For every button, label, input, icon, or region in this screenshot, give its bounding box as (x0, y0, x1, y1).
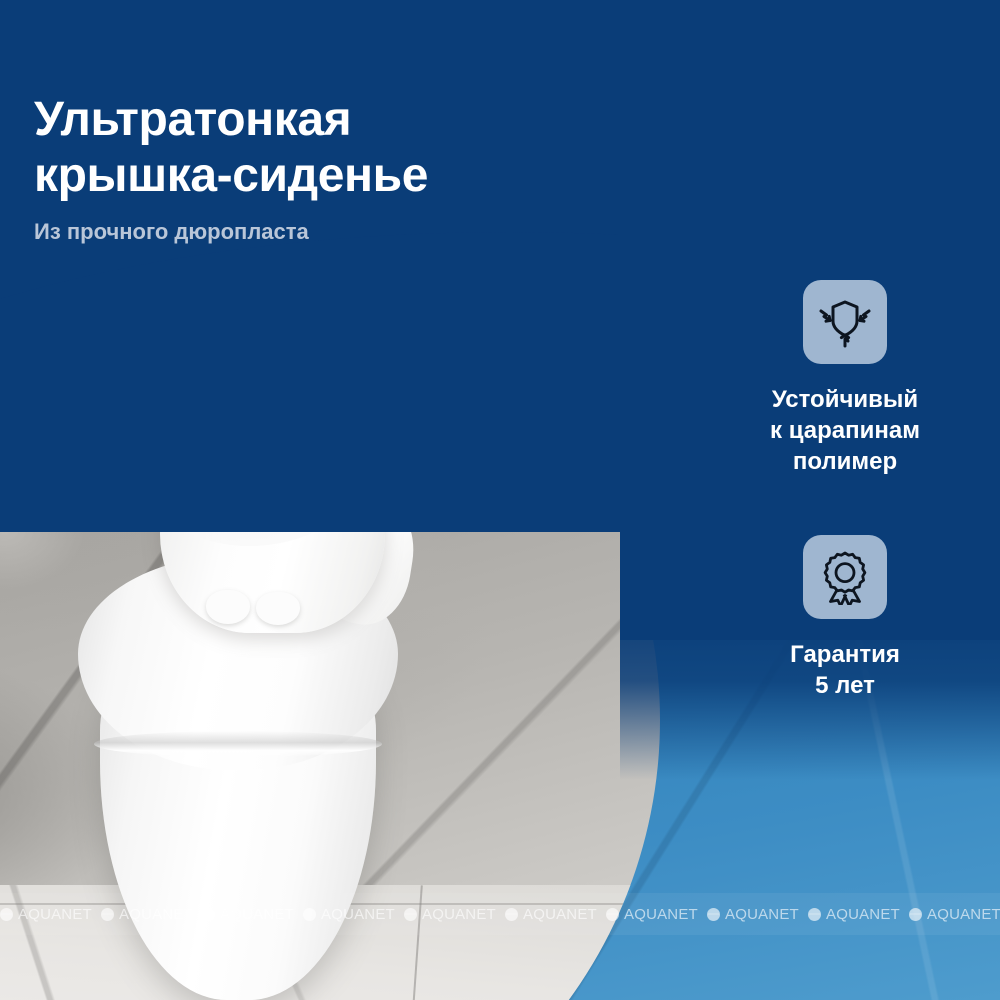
award-rosette-icon (817, 549, 873, 605)
shield-scratch-resistant-icon (817, 294, 873, 350)
subheadline: Из прочного дюропласта (34, 218, 634, 246)
lid-seam (94, 731, 382, 757)
title-block: Ультратонкая крышка-сиденье Из прочного … (34, 92, 634, 246)
feature-caption-line-1: Гарантия (690, 639, 1000, 670)
feature-item-scratch-resistant: Устойчивый к царапинам полимер (690, 280, 1000, 477)
cat-paw-left (206, 590, 250, 624)
feature-list: Устойчивый к царапинам полимер Гарантия … (690, 280, 1000, 701)
headline-line-1: Ультратонкая (34, 92, 634, 148)
feature-caption-line-1: Устойчивый (690, 384, 1000, 415)
feature-item-warranty: Гарантия 5 лет (690, 535, 1000, 701)
feature-icon-tile (803, 535, 887, 619)
feature-caption-line-3: полимер (690, 446, 1000, 477)
headline-line-2: крышка-сиденье (34, 148, 634, 204)
feature-caption: Устойчивый к царапинам полимер (690, 384, 1000, 477)
feature-icon-tile (803, 280, 887, 364)
cat-paw-right (256, 592, 300, 625)
feature-caption-line-2: к царапинам (690, 415, 1000, 446)
feature-caption-line-2: 5 лет (690, 670, 1000, 701)
product-banner: Ультратонкая крышка-сиденье Из прочного … (0, 0, 1000, 1000)
feature-caption: Гарантия 5 лет (690, 639, 1000, 701)
